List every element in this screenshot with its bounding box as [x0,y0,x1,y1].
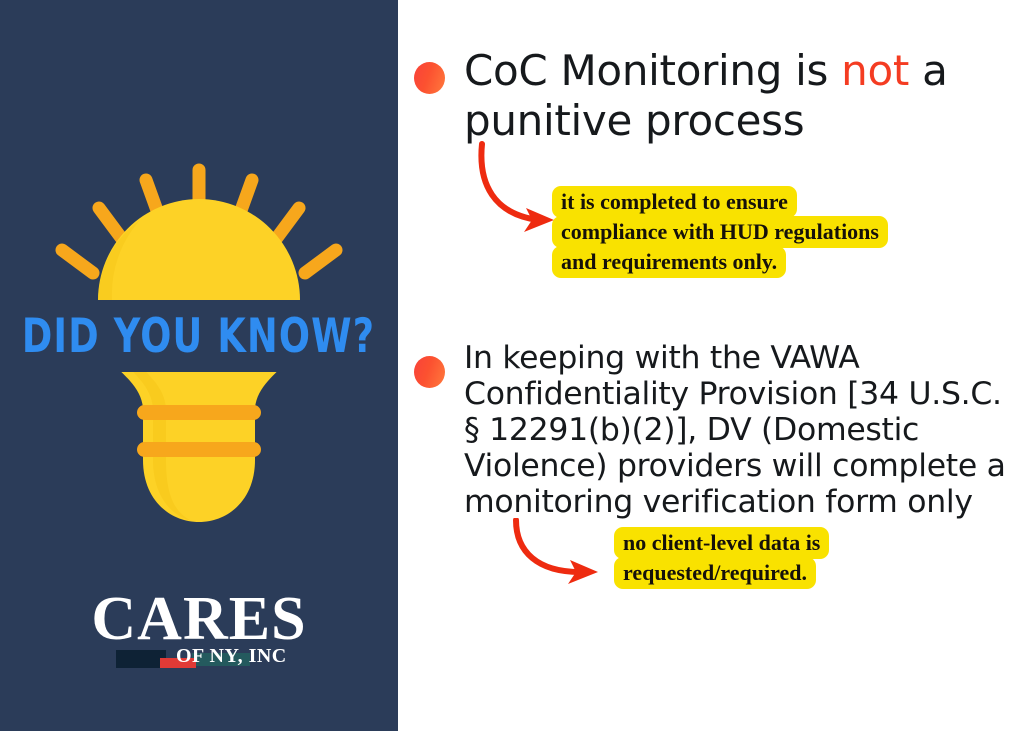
logo-wordmark: CARES [0,588,398,650]
bullet-1-headline-part-0: CoC Monitoring is [464,46,841,95]
callout-1-line-3: and requirements only. [552,246,786,278]
callout-1: it is completed to ensure compliance wit… [552,186,888,278]
callout-1-line-1: it is completed to ensure [552,186,797,218]
right-panel: CoC Monitoring is not a punitive process… [398,0,1024,731]
callout-2-line-1: no client-level data is [614,527,829,559]
bullet-2-headline: In keeping with the VAWA Confidentiality… [464,340,1024,520]
bullet-1-headline: CoC Monitoring is not a punitive process [464,46,1014,146]
did-you-know-title: DID YOU KNOW? [22,313,375,360]
callout-1-line-2: compliance with HUD regulations [552,216,888,248]
curved-arrow-icon-2 [510,518,620,590]
logo-subtitle: OF NY, INC [176,645,287,667]
logo-bar-navy [116,650,166,668]
did-you-know-band: DID YOU KNOW? [0,300,398,372]
bullet-dot-icon-1 [414,62,445,94]
bullet-1-headline-emphasis: not [841,46,909,95]
bullet-dot-icon-2 [414,356,445,388]
left-panel: DID YOU KNOW? CARES OF NY, INC [0,0,398,731]
callout-2: no client-level data is requested/requir… [614,527,829,589]
slide-canvas: DID YOU KNOW? CARES OF NY, INC CoC Monit… [0,0,1024,731]
callout-2-line-2: requested/required. [614,557,816,589]
